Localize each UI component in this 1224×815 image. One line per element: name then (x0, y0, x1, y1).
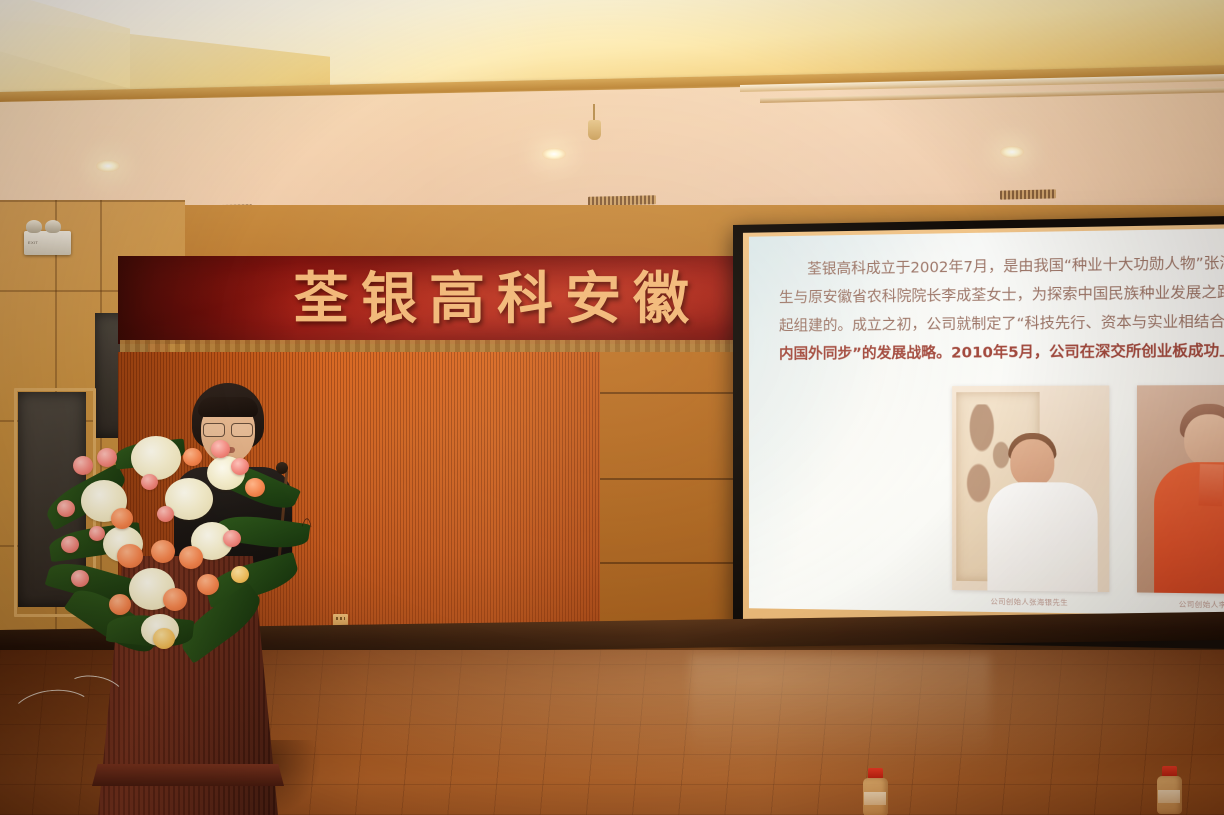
slide-caption-row: 公司创始人张海银先生 公司创始人李成荃女士 (950, 596, 1224, 611)
portrait-head (1010, 439, 1054, 486)
projection-screen-border: 荃银高科成立于2002年7月，是由我国“种业十大功勋人物”张海银先 生与原安徽省… (743, 224, 1224, 639)
founder-photo-female (1137, 385, 1224, 595)
ceiling-downlight-icon (1000, 146, 1024, 158)
slide-body-text: 荃银高科成立于2002年7月，是由我国“种业十大功勋人物”张海银先 生与原安徽省… (779, 249, 1224, 369)
emergency-light-icon: EXIT (24, 231, 71, 255)
projection-screen: 荃银高科成立于2002年7月，是由我国“种业十大功勋人物”张海银先 生与原安徽省… (733, 216, 1224, 650)
banner-bottom-trim (120, 340, 750, 352)
banner-shadow (118, 256, 298, 344)
portrait-shirt (987, 482, 1097, 592)
speaker-fringe (198, 397, 258, 417)
emergency-light-label: EXIT (28, 240, 38, 245)
ceiling-pendant-icon (588, 120, 601, 140)
bottle-label (1158, 790, 1180, 803)
slide-line: 生与原安徽省农科院院长李成荃女士，为探索中国民族种业发展之路而发 (779, 278, 1224, 312)
projected-slide: 荃银高科成立于2002年7月，是由我国“种业十大功勋人物”张海银先 生与原安徽省… (749, 228, 1224, 616)
ceiling-downlight-icon (96, 160, 120, 172)
banner-text: 荃银高科安徽 (293, 260, 701, 340)
slide-line-highlighted: 内国外同步”的发展战略。2010年5月，公司在深交所创业板成功上市。 (779, 337, 1224, 369)
portrait-head (1184, 414, 1224, 466)
photo-caption: 公司创始人张海银先生 (950, 596, 1109, 609)
water-bottle (1156, 766, 1182, 814)
slide-photo-row (952, 385, 1224, 595)
floor-light-reflection (690, 655, 990, 765)
bottle-label (864, 792, 886, 805)
portrait-collar (1198, 464, 1223, 507)
podium-base (92, 764, 284, 786)
water-bottle (862, 768, 888, 815)
slide-line: 起组建的。成立之初，公司就制定了“科技先行、资本与实业相结合、国 (779, 308, 1224, 341)
conference-hall-photo: EXIT 荃银高科安徽 荃银高科成立于2002年7月，是由我国“种业十大功勋人物… (0, 0, 1224, 815)
founder-photo-male (952, 386, 1109, 593)
ceiling-air-vent (1000, 189, 1056, 199)
flower-bouquet (45, 418, 305, 668)
ceiling-downlight-icon (542, 148, 566, 160)
red-banner: 荃银高科安徽 (118, 256, 748, 344)
photo-caption: 公司创始人李成荃女士 (1137, 599, 1224, 612)
